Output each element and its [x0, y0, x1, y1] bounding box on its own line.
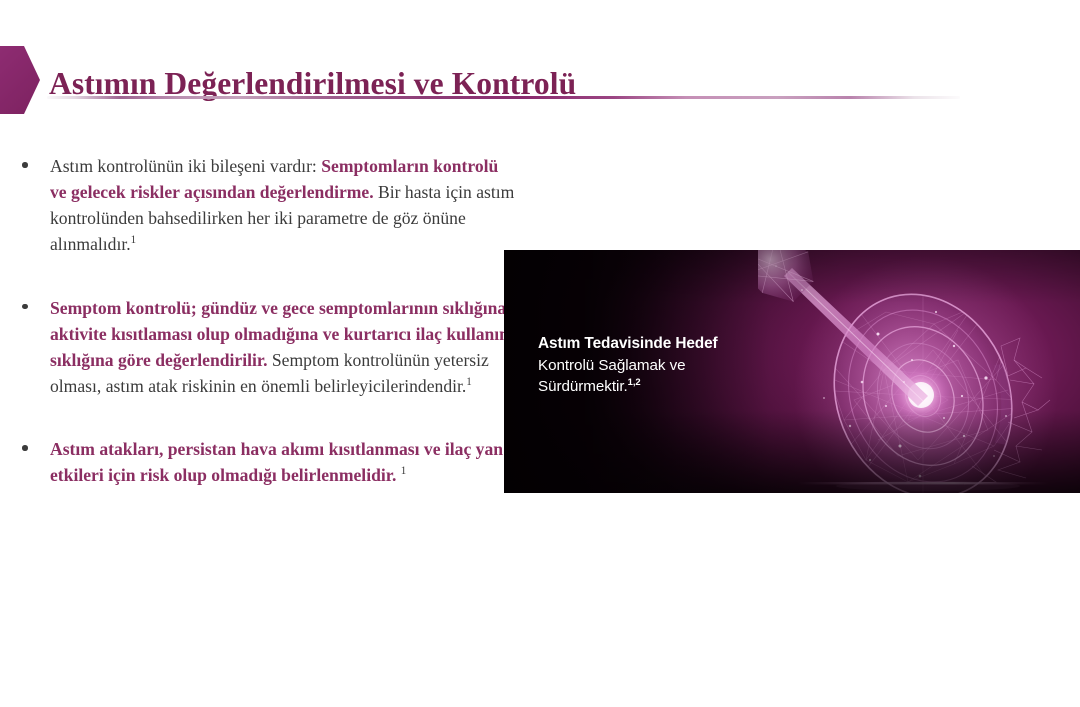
hero-text-block: Astım Tedavisinde Hedef Kontrolü Sağlama… — [538, 334, 788, 397]
hero-subline-1: Kontrolü Sağlamak ve — [538, 356, 788, 376]
bullet-list: Astım kontrolünün iki bileşeni vardır: S… — [18, 153, 518, 488]
bullet-point-icon — [22, 304, 28, 310]
list-item: Semptom kontrolü; gündüz ve gece semptom… — [18, 295, 518, 400]
list-item: Astım atakları, persistan hava akımı kıs… — [18, 436, 518, 488]
citation-superscript: 1 — [401, 465, 407, 477]
hero-citation-superscript: 1,2 — [628, 376, 641, 387]
slide-root: Astımın Değerlendirilmesi ve Kontrolü As… — [0, 0, 1080, 707]
bullet-point-icon — [22, 162, 28, 168]
hero-subline-2: Sürdürmektir.1,2 — [538, 377, 788, 397]
hero-image-panel: Astım Tedavisinde Hedef Kontrolü Sağlama… — [504, 250, 1080, 493]
citation-superscript: 1 — [131, 235, 137, 247]
chevron-accent-icon — [0, 46, 40, 114]
bullet-text-highlight: Astım atakları, persistan hava akımı kıs… — [50, 439, 503, 485]
bullet-point-icon — [22, 445, 28, 451]
bullet-text-segment: Astım kontrolünün iki bileşeni vardır: — [50, 156, 321, 176]
hero-headline: Astım Tedavisinde Hedef — [538, 334, 788, 354]
citation-superscript: 1 — [466, 376, 472, 388]
title-divider — [47, 96, 960, 99]
list-item: Astım kontrolünün iki bileşeni vardır: S… — [18, 153, 518, 258]
hero-subline-2-text: Sürdürmektir. — [538, 378, 628, 395]
